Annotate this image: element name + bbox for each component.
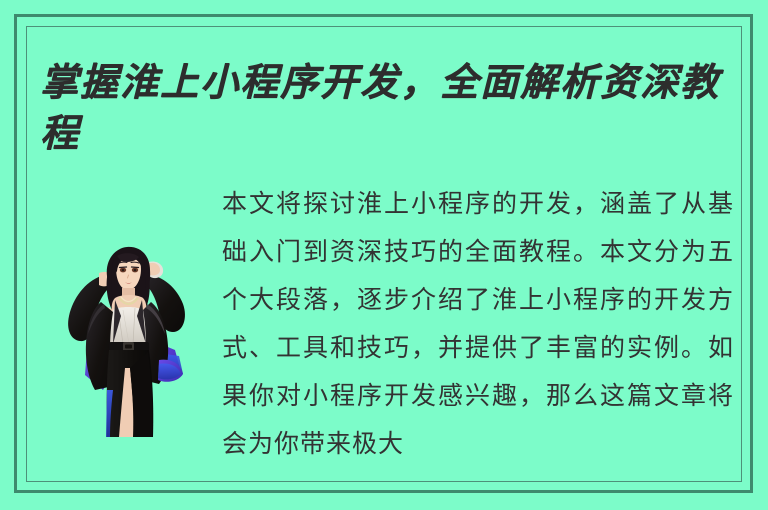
article-card: 掌握淮上小程序开发，全面解析资深教程	[0, 0, 768, 510]
article-body: 本文将探讨淮上小程序的开发，涵盖了从基础入门到资深技巧的全面教程。本文分为五个大…	[222, 180, 734, 468]
page-title: 掌握淮上小程序开发，全面解析资深教程	[40, 56, 740, 158]
illustration-image	[55, 240, 196, 437]
anime-woman-illustration	[55, 240, 196, 437]
